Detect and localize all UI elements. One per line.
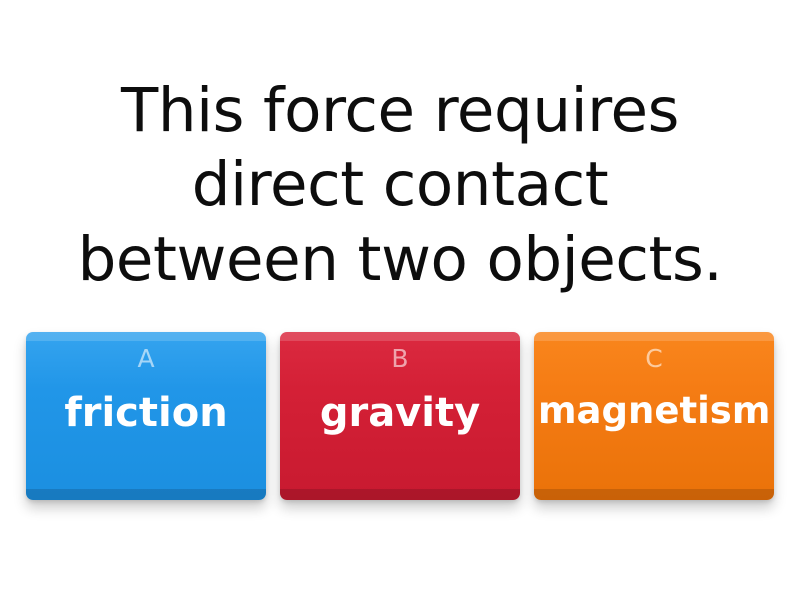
answer-label-a: friction xyxy=(26,392,266,434)
answer-card-a[interactable]: A friction xyxy=(26,332,266,500)
quiz-stage: This force requires direct contact betwe… xyxy=(0,0,800,600)
question-area: This force requires direct contact betwe… xyxy=(38,74,762,297)
answer-label-c: magnetism xyxy=(534,392,774,431)
answer-options-row: A friction B gravity C magnetism xyxy=(0,332,800,500)
answer-card-b[interactable]: B gravity xyxy=(280,332,520,500)
question-text: This force requires direct contact betwe… xyxy=(78,74,723,297)
answer-label-b: gravity xyxy=(280,392,520,434)
answer-letter-a: A xyxy=(137,346,154,371)
answer-letter-b: B xyxy=(391,346,408,371)
answer-letter-c: C xyxy=(645,346,662,371)
answer-card-c[interactable]: C magnetism xyxy=(534,332,774,500)
